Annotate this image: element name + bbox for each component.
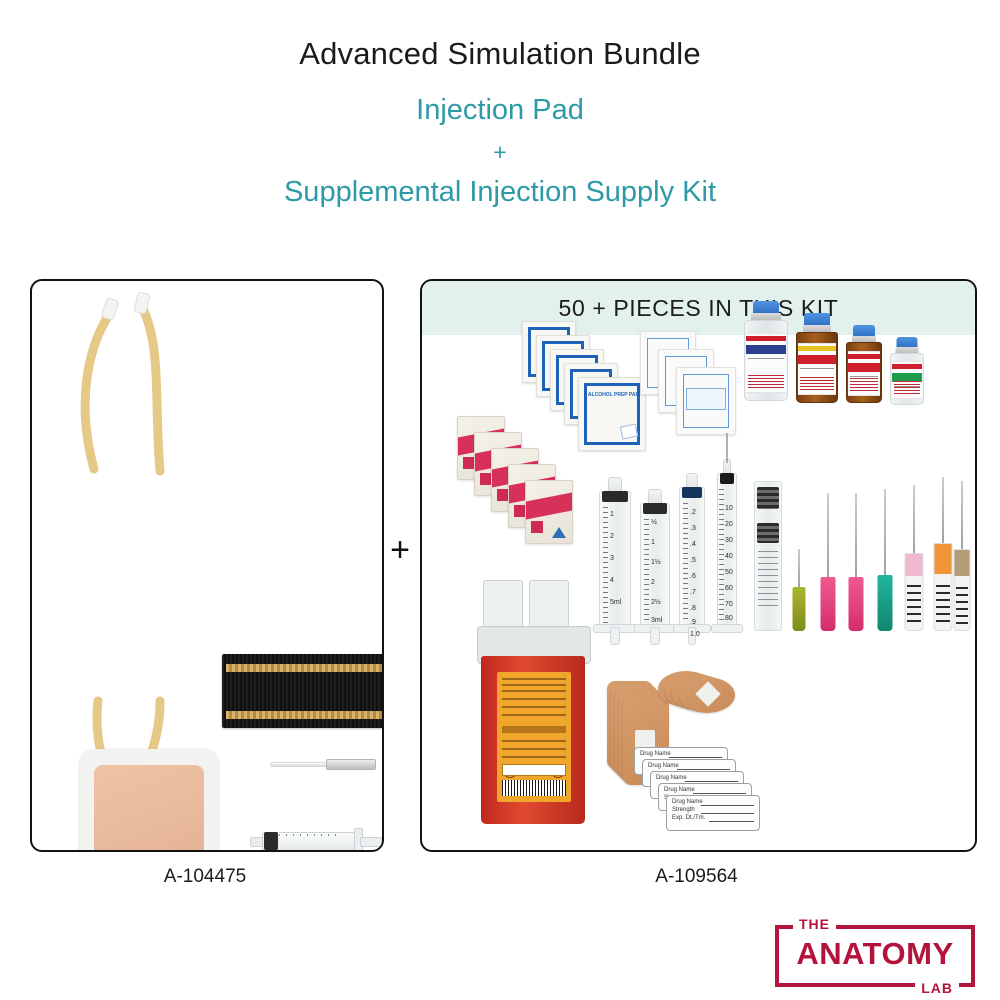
supply-kit-panel: 50 + PIECES IN THIS KIT ALCOHOL PREP PAD — [420, 279, 977, 852]
drug-label-field-exp: Exp. Dt./Tm. — [672, 815, 705, 821]
sharps-barcode — [502, 780, 566, 796]
sharps-lid-flap-right — [529, 580, 569, 628]
drug-label-field-name: Drug Name — [656, 775, 687, 781]
syringe-plunger-rod — [360, 837, 382, 847]
alcohol-prep-pad-packet-front: ALCOHOL PREP PAD — [578, 377, 646, 451]
logo-lab-text: LAB — [915, 980, 959, 996]
drug-label-field-name: Drug Name — [672, 799, 703, 805]
sharps-ref-number — [502, 764, 566, 776]
injection-pad — [80, 749, 218, 852]
needle-olive — [792, 549, 806, 631]
needle-safety-tan — [954, 481, 970, 631]
practi-vial — [846, 325, 882, 403]
needle-teal — [877, 489, 893, 631]
practi-vial — [744, 301, 788, 401]
strap-gold-stripe-top — [226, 664, 384, 672]
gauze-pad-packet — [676, 367, 736, 435]
needle-safety-orange — [934, 477, 952, 631]
pad-skin-surface — [94, 765, 204, 852]
sharps-fill-line — [502, 726, 566, 733]
page-title: Advanced Simulation Bundle — [0, 36, 1000, 72]
syringe-1ml: .2.3 .4.5 .6.7 .8.9 1.0 — [679, 473, 705, 645]
syringe-insulin: 1020 3040 5060 7080 — [717, 459, 737, 645]
sharps-lid-flap-left — [483, 580, 523, 628]
logo-anatomy-text: ANATOMY — [775, 938, 975, 969]
drug-label-field-name: Drug Name — [664, 787, 695, 793]
needle-safety-pink — [905, 485, 923, 631]
sharps-warning-label — [497, 672, 571, 802]
syringe — [250, 826, 380, 852]
bundle-plus-separator: + — [386, 536, 414, 564]
product-one-title: Injection Pad — [0, 94, 1000, 127]
kit-piece-count-banner: 50 + PIECES IN THIS KIT — [422, 281, 975, 335]
strap-gold-stripe-bottom — [226, 711, 384, 719]
alcohol-prep-pad-text: ALCOHOL PREP PAD — [588, 392, 639, 399]
needle-pink — [820, 493, 836, 631]
needle-hub — [326, 759, 376, 770]
practi-vial — [890, 337, 924, 405]
spot-bandage — [679, 677, 735, 713]
drug-label-field-name: Drug Name — [640, 751, 671, 757]
needle — [270, 759, 374, 768]
logo-the-text: THE — [793, 916, 836, 932]
drug-label-field-strength: Strength — [672, 807, 695, 813]
syringe-3ml: ½1 1½2 2½3ml — [640, 489, 670, 645]
page-header: Advanced Simulation Bundle Injection Pad… — [0, 0, 1000, 209]
safety-syringe-vial-adapter — [754, 481, 782, 631]
syringe-graduations — [272, 834, 342, 836]
title-plus-separator: + — [0, 139, 1000, 166]
left-product-sku: A-104475 — [30, 866, 380, 888]
securing-strap — [222, 654, 384, 728]
needle-shaft — [270, 762, 330, 767]
drug-label-field-name: Drug Name — [648, 763, 679, 769]
right-product-sku: A-109564 — [420, 866, 973, 888]
iodine-swab-packet — [525, 480, 573, 544]
product-two-title: Supplemental Injection Supply Kit — [0, 176, 1000, 209]
needle-pink — [848, 493, 864, 631]
sharps-container — [477, 602, 589, 824]
syringe-5ml: 12 34 5ml — [599, 477, 631, 645]
drug-label-front: Drug Name Strength Exp. Dt./Tm. — [666, 795, 760, 831]
brand-logo: THE ANATOMY LAB — [775, 925, 975, 987]
practi-vial — [796, 313, 838, 403]
injection-pad-panel — [30, 279, 384, 852]
syringe-plunger-seal — [264, 832, 278, 850]
